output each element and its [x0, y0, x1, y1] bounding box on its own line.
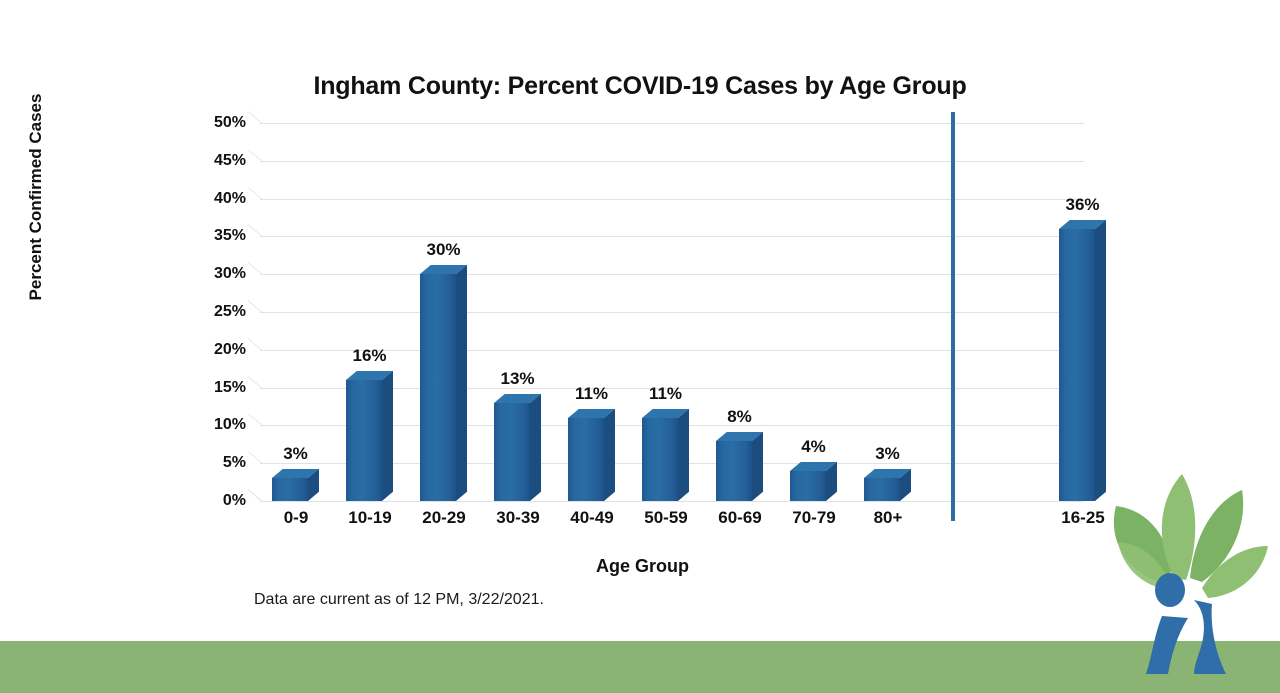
y-axis-tick-labels: 50%45%40%35%30%25%20%15%10%5%0%: [186, 112, 246, 502]
y-axis-tick-label: 5%: [186, 454, 246, 472]
y-axis-tick-label: 35%: [186, 227, 246, 245]
bar-value-label: 13%: [484, 369, 551, 389]
bar: 13%: [494, 394, 541, 501]
bar-value-label: 36%: [1049, 195, 1116, 215]
chart-title: Ingham County: Percent COVID-19 Cases by…: [0, 72, 1280, 101]
y-axis-tick-label: 40%: [186, 190, 246, 208]
bar-front-face: [346, 380, 382, 501]
bar-value-label: 8%: [706, 407, 773, 427]
bar-front-face: [568, 418, 604, 501]
y-axis-tick-label: 15%: [186, 379, 246, 397]
bar: 11%: [568, 409, 615, 501]
bar-value-label: 4%: [780, 437, 847, 457]
logo-leaves: [1114, 474, 1268, 598]
category-divider-line: [951, 112, 955, 521]
bar-front-face: [272, 478, 308, 501]
bar-value-label: 11%: [558, 384, 625, 404]
x-axis-tick-label: 70-79: [775, 508, 853, 528]
x-axis-tick-label: 20-29: [405, 508, 483, 528]
y-axis-tick-label: 30%: [186, 265, 246, 283]
bar-side-face: [456, 265, 467, 501]
y-axis-tick-label: 10%: [186, 416, 246, 434]
bar-front-face: [642, 418, 678, 501]
data-currency-footnote: Data are current as of 12 PM, 3/22/2021.: [254, 591, 544, 609]
organization-logo: [1102, 466, 1278, 676]
bar-front-face: [864, 478, 900, 501]
bar-side-face: [382, 371, 393, 501]
bar-side-face: [1095, 220, 1106, 501]
bar-value-label: 16%: [336, 346, 403, 366]
bar-series: 3%16%30%13%11%11%8%4%3%36%: [248, 112, 1084, 504]
y-axis-tick-label: 25%: [186, 303, 246, 321]
footer-band: [0, 641, 1280, 693]
y-axis-title: Percent Confirmed Cases: [26, 72, 46, 322]
bar: 16%: [346, 371, 393, 501]
bar: 8%: [716, 432, 763, 501]
x-axis-tick-label: 10-19: [331, 508, 409, 528]
bar: 11%: [642, 409, 689, 501]
bar-value-label: 30%: [410, 240, 477, 260]
x-axis-tick-label: 50-59: [627, 508, 705, 528]
bar: 30%: [420, 265, 467, 501]
bar-side-face: [530, 394, 541, 501]
bar-front-face: [494, 403, 530, 501]
x-axis-tick-label: 40-49: [553, 508, 631, 528]
bar: 3%: [864, 469, 911, 501]
bar-value-label: 11%: [632, 384, 699, 404]
x-axis-tick-label: 80+: [849, 508, 927, 528]
bar-front-face: [420, 274, 456, 501]
bar-front-face: [716, 441, 752, 501]
y-axis-tick-label: 0%: [186, 492, 246, 510]
bar-side-face: [678, 409, 689, 501]
x-axis-tick-labels: 0-910-1920-2930-3940-4950-5960-6970-7980…: [248, 508, 1084, 534]
x-axis-tick-label: 0-9: [257, 508, 335, 528]
bar: 4%: [790, 462, 837, 501]
bar-value-label: 3%: [854, 444, 921, 464]
y-axis-tick-label: 20%: [186, 341, 246, 359]
x-axis-title: Age Group: [250, 556, 1035, 577]
y-axis-tick-label: 50%: [186, 114, 246, 132]
bar-front-face: [790, 471, 826, 501]
bar-front-face: [1059, 229, 1095, 501]
bar-side-face: [752, 431, 763, 501]
bar: 3%: [272, 469, 319, 501]
bar-side-face: [604, 409, 615, 501]
slide-canvas: Ingham County: Percent COVID-19 Cases by…: [0, 0, 1280, 693]
y-axis-tick-label: 45%: [186, 152, 246, 170]
bar: 36%: [1059, 220, 1106, 501]
x-axis-tick-label: 30-39: [479, 508, 557, 528]
bar-value-label: 3%: [262, 444, 329, 464]
x-axis-tick-label: 60-69: [701, 508, 779, 528]
